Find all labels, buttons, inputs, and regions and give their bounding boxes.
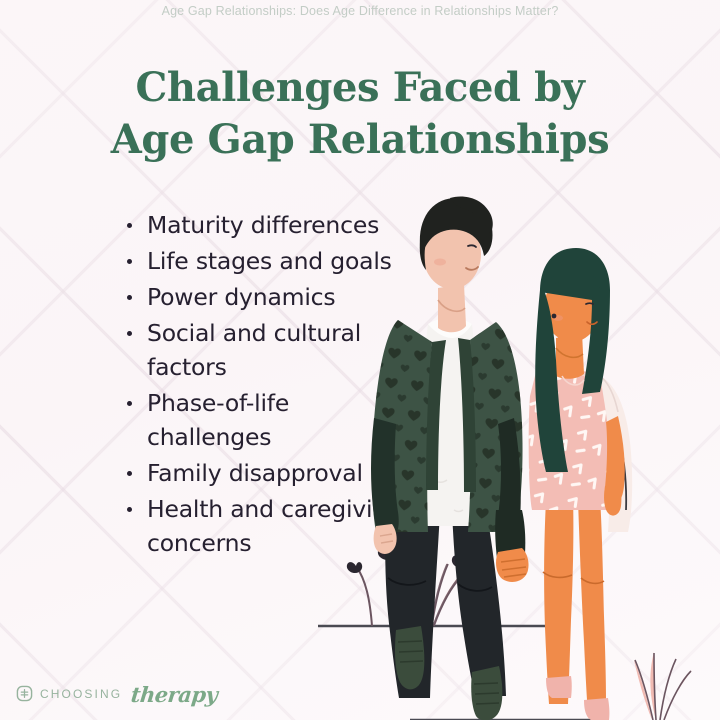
plant-right	[634, 652, 692, 720]
man-figure	[360, 197, 540, 720]
page-title-line-1: Challenges Faced by	[0, 62, 720, 114]
woman-figure	[524, 248, 634, 720]
infographic-canvas: Age Gap Relationships: Does Age Differen…	[0, 0, 720, 720]
logo-word-choosing: CHOOSING	[40, 687, 122, 701]
page-title-line-2: Age Gap Relationships	[0, 114, 720, 166]
brand-logo[interactable]: CHOOSING therapy	[16, 681, 218, 706]
choosing-therapy-mark-icon	[16, 685, 33, 702]
page-title: Challenges Faced by Age Gap Relationship…	[0, 62, 720, 166]
couple-walking-illustration	[300, 180, 720, 720]
article-kicker: Age Gap Relationships: Does Age Differen…	[0, 4, 720, 18]
logo-word-therapy: therapy	[130, 682, 219, 707]
